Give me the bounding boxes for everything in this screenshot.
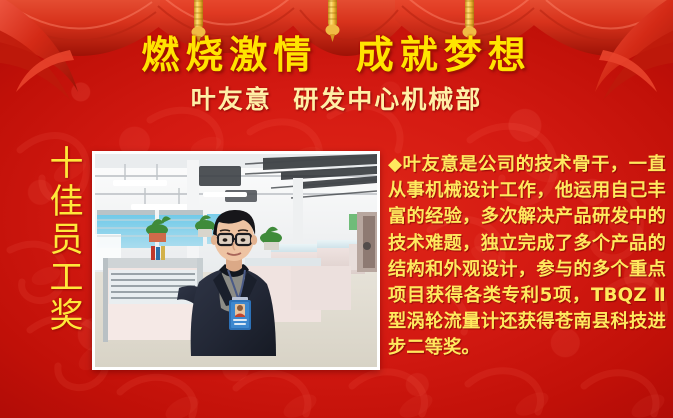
title-block: 燃烧激情 成就梦想 叶友意 研发中心机械部 — [0, 36, 673, 112]
award-poster: 燃烧激情 成就梦想 叶友意 研发中心机械部 十佳员工奖 — [0, 0, 673, 418]
main-title: 燃烧激情 成就梦想 — [0, 36, 673, 74]
id-badge — [229, 300, 251, 330]
employee-photo-frame — [92, 151, 380, 370]
award-vertical-label: 十佳员工奖 — [40, 145, 82, 335]
employee-description: ◆叶友意是公司的技术骨干，一直从事机械设计工作，他运用自己丰富的经验，多次解决产… — [388, 152, 666, 362]
employee-photo — [95, 154, 377, 367]
sub-title: 叶友意 研发中心机械部 — [0, 87, 673, 112]
